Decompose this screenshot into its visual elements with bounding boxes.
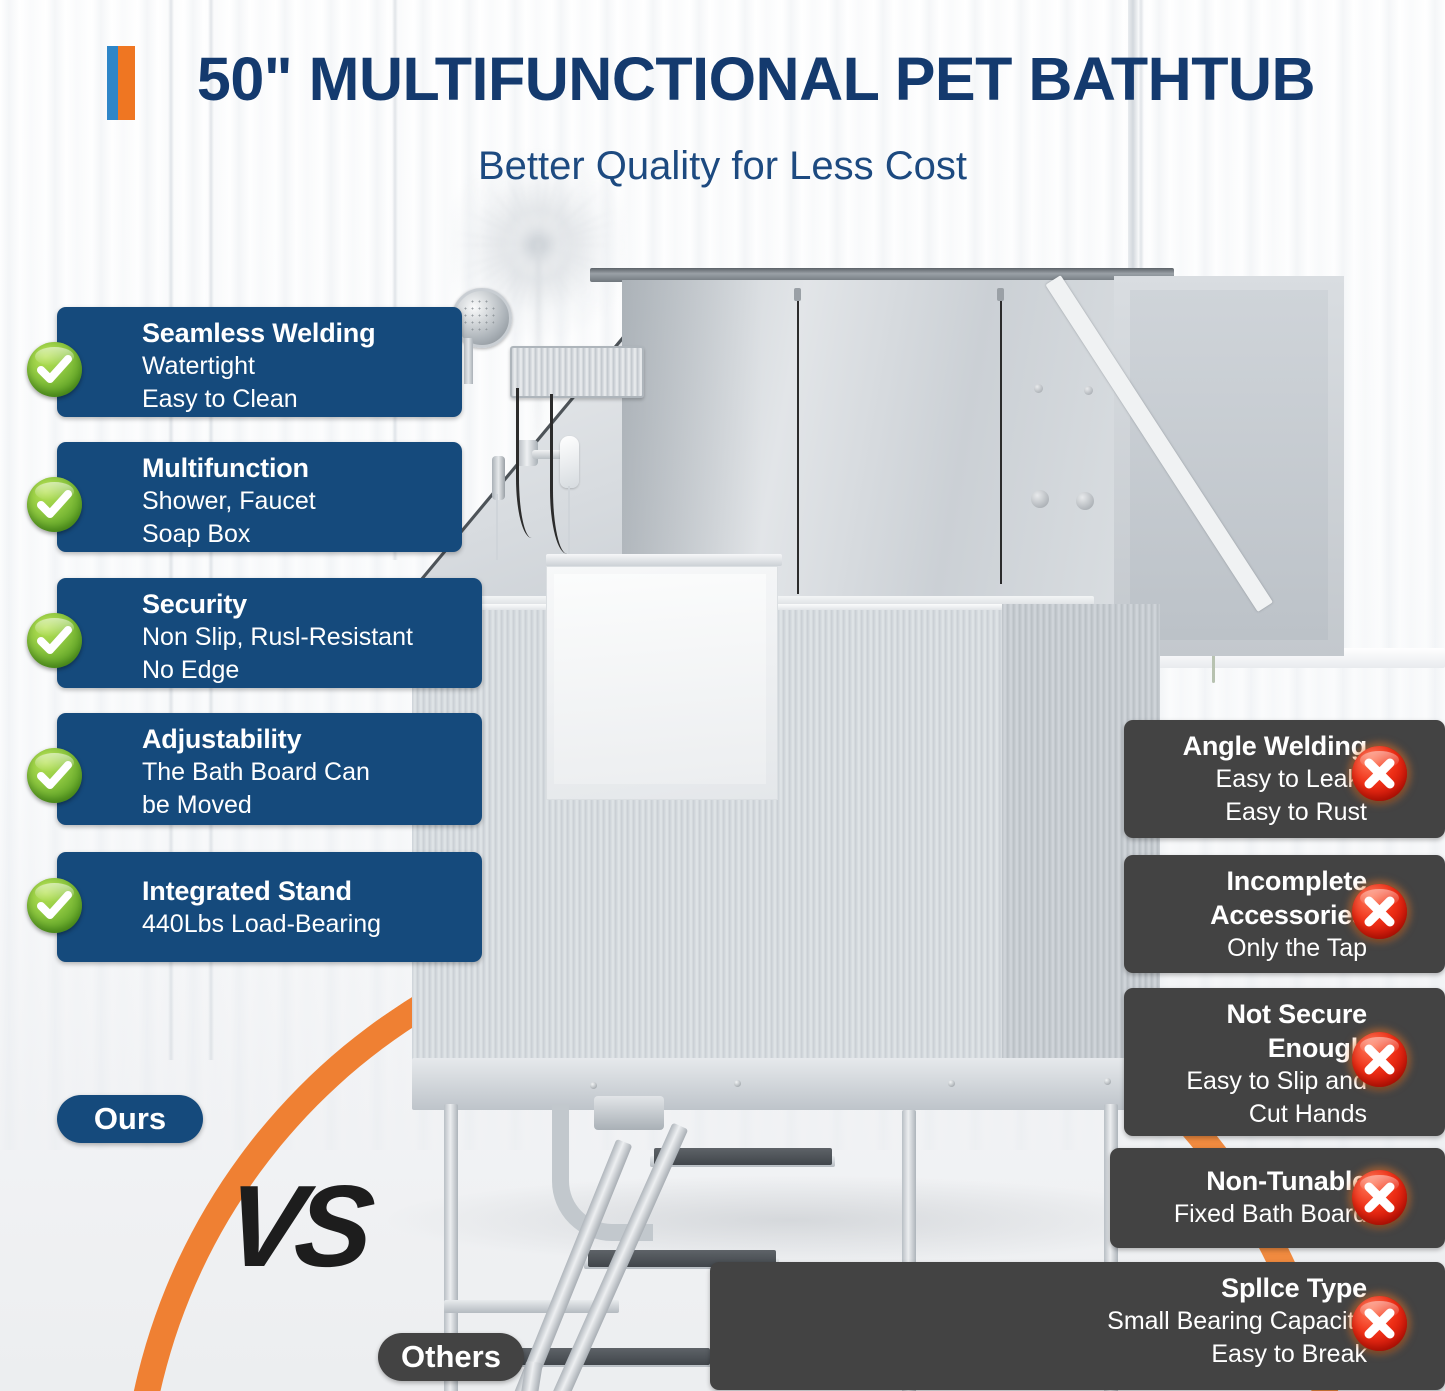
page-subtitle: Better Quality for Less Cost <box>0 140 1445 192</box>
feature-line: Easy to Slip and <box>1142 1065 1367 1098</box>
x-circle-icon <box>1352 884 1407 939</box>
sprayer-line <box>568 486 570 556</box>
feature-title: Adjustability <box>142 722 466 756</box>
feature-line: Easy to Leak, <box>1142 763 1367 796</box>
tub-right-inner-panel <box>1130 290 1328 640</box>
wall-knob <box>1076 492 1094 510</box>
handheld-sprayer <box>492 456 505 500</box>
leash-cord <box>1000 294 1002 584</box>
badge-ours: Ours <box>57 1095 203 1143</box>
feature-title: Angle Welding <box>1142 729 1367 763</box>
apron-screw <box>590 1082 597 1089</box>
feature-box-ours-1[interactable]: Seamless Welding Watertight Easy to Clea… <box>57 307 462 417</box>
x-circle-icon <box>1352 746 1407 801</box>
feature-line: Small Bearing Capacity <box>728 1305 1367 1338</box>
check-circle-icon <box>27 342 82 397</box>
apron-screw <box>948 1080 955 1087</box>
bath-board-rail <box>546 554 782 566</box>
x-circle-icon <box>1352 1170 1407 1225</box>
feature-title: Integrated Stand <box>142 874 466 908</box>
feature-line: Soap Box <box>142 518 446 551</box>
badge-others: Others <box>378 1333 524 1381</box>
feature-line: Easy to Rust <box>1142 796 1367 829</box>
check-circle-icon <box>27 477 82 532</box>
wall-knob-small <box>1084 386 1093 395</box>
stair-tread <box>654 1148 832 1165</box>
x-circle-icon <box>1352 1296 1407 1351</box>
feature-title-line: Enough <box>1142 1031 1367 1065</box>
badge-ours-label: Ours <box>94 1101 166 1137</box>
shower-head-nozzles <box>462 298 496 332</box>
shower-arm <box>464 338 473 384</box>
feature-title: Spllce Type <box>728 1271 1367 1305</box>
feature-box-ours-3[interactable]: Security Non Slip, Rusl-Resistant No Edg… <box>57 578 482 688</box>
feature-title-line: Not Secure <box>1142 997 1367 1031</box>
feature-title: Seamless Welding <box>142 316 446 350</box>
shower-hose <box>550 394 593 554</box>
feature-box-ours-2[interactable]: Multifunction Shower, Faucet Soap Box <box>57 442 462 552</box>
feature-line: Watertight <box>142 350 446 383</box>
feature-line: 440Lbs Load-Bearing <box>142 908 466 941</box>
page-title: 50" MULTIFUNCTIONAL PET BATHTUB <box>126 42 1386 116</box>
feature-box-ours-5[interactable]: Integrated Stand 440Lbs Load-Bearing <box>57 852 482 962</box>
leash-clip <box>794 288 801 301</box>
accent-bar-blue <box>107 46 118 120</box>
feature-box-others-5[interactable]: Spllce Type Small Bearing Capacity Easy … <box>710 1262 1445 1390</box>
feature-line: The Bath Board Can <box>142 756 466 789</box>
feature-title: Multifunction <box>142 451 446 485</box>
leash-cord <box>797 294 799 594</box>
x-circle-icon <box>1352 1032 1407 1087</box>
leash-clip <box>997 288 1004 301</box>
feature-title-line: Accessories <box>1142 898 1367 932</box>
feature-line: Only the Tap <box>1142 932 1367 965</box>
versus-logo: VS <box>200 1166 393 1286</box>
feature-line: Non Slip, Rusl-Resistant <box>142 621 466 654</box>
check-circle-icon <box>27 613 82 668</box>
feature-line: Cut Hands <box>1142 1098 1367 1131</box>
feature-title-line: Incomplete <box>1142 864 1367 898</box>
product-image-pet-bathtub <box>404 258 1164 1268</box>
feature-title: Security <box>142 587 466 621</box>
feature-box-ours-4[interactable]: Adjustability The Bath Board Can be Move… <box>57 713 482 825</box>
feature-line: be Moved <box>142 789 466 822</box>
feature-line: Easy to Clean <box>142 383 446 416</box>
check-circle-icon <box>27 748 82 803</box>
bath-board-face <box>554 574 766 784</box>
wall-knob-small <box>1034 384 1043 393</box>
feature-title: Non-Tunable <box>1128 1164 1367 1198</box>
infographic-canvas: Seamless Welding Watertight Easy to Clea… <box>0 0 1445 1391</box>
badge-others-label: Others <box>401 1339 501 1375</box>
pampas-spike <box>451 244 538 246</box>
tub-apron <box>412 1058 1160 1110</box>
feature-line: No Edge <box>142 654 466 687</box>
feature-line: Shower, Faucet <box>142 485 446 518</box>
apron-screw <box>734 1080 741 1087</box>
wall-knob <box>1031 490 1049 508</box>
feature-line: Easy to Break <box>728 1338 1367 1371</box>
feature-line: Fixed Bath Board <box>1128 1198 1367 1231</box>
check-circle-icon <box>27 878 82 933</box>
apron-screw <box>1104 1078 1111 1085</box>
sprayer-line <box>496 494 498 560</box>
